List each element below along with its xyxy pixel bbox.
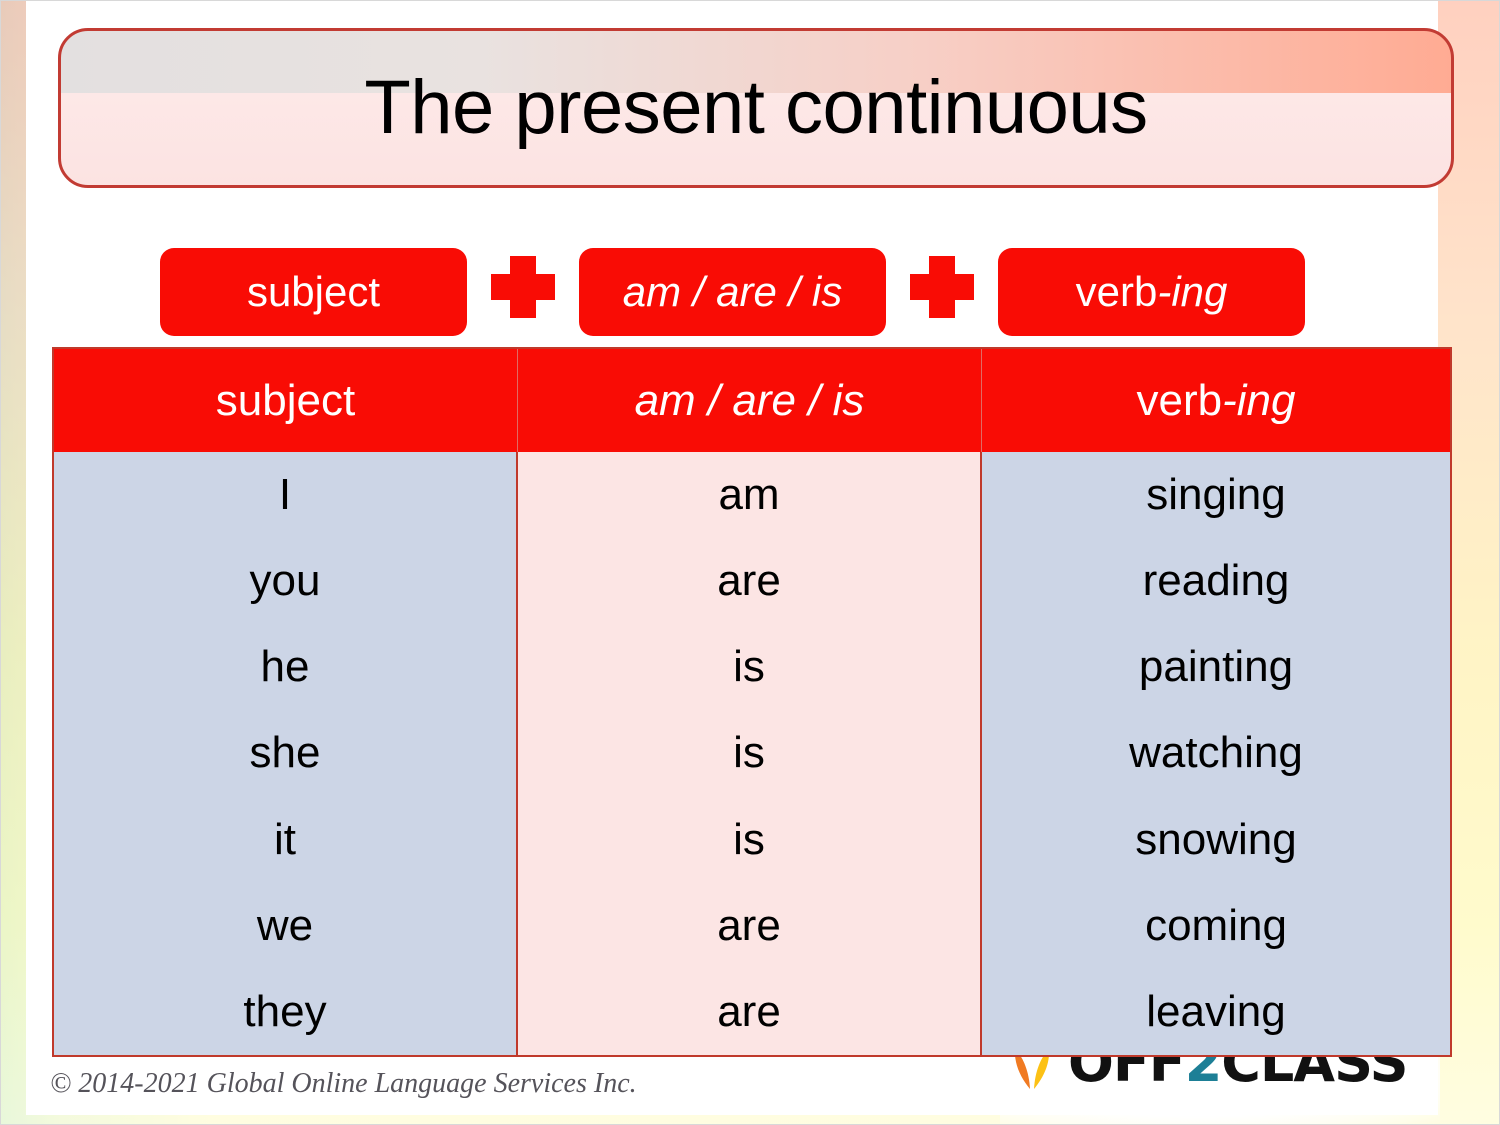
slide-canvas: The present continuous subject am / are … [0, 0, 1500, 1125]
table-header-subject: subject [54, 349, 518, 452]
formula-row: subject am / are / is verb -ing [160, 246, 1342, 338]
table-header-row: subject am / are / is verb -ing [54, 349, 1450, 452]
table-cell-verb: snowing [982, 797, 1450, 883]
table-header-verb: verb -ing [982, 349, 1450, 452]
table-cell-aux: is [518, 797, 980, 883]
formula-pill-verb-label: verb [1076, 271, 1158, 313]
formula-pill-subject-label: subject [247, 271, 380, 313]
copyright-notice: © 2014-2021 Global Online Language Servi… [50, 1068, 637, 1100]
table-cell-subject: I [54, 452, 516, 538]
table-cell-subject: we [54, 883, 516, 969]
table-cell-subject: it [54, 797, 516, 883]
table-header-aux: am / are / is [518, 349, 982, 452]
conjugation-table: subject am / are / is verb -ing I you he… [52, 347, 1452, 1057]
table-column-subject: I you he she it we they [54, 452, 518, 1055]
table-cell-aux: are [518, 969, 980, 1055]
table-cell-verb: reading [982, 538, 1450, 624]
table-cell-subject: he [54, 624, 516, 710]
formula-spacer [976, 292, 998, 293]
table-cell-verb: painting [982, 624, 1450, 710]
formula-pill-aux-label: am / are / is [623, 271, 842, 313]
table-column-aux: am are is is is are are [518, 452, 982, 1055]
title-banner: The present continuous [58, 28, 1454, 188]
formula-pill-subject[interactable]: subject [160, 248, 467, 336]
table-cell-verb: coming [982, 883, 1450, 969]
table-cell-aux: is [518, 624, 980, 710]
table-cell-verb: watching [982, 710, 1450, 796]
plus-icon [908, 248, 976, 336]
table-cell-aux: am [518, 452, 980, 538]
formula-pill-verb[interactable]: verb -ing [998, 248, 1305, 336]
table-column-verb: singing reading painting watching snowin… [982, 452, 1450, 1055]
table-cell-verb: singing [982, 452, 1450, 538]
formula-spacer [467, 292, 489, 293]
table-cell-subject: you [54, 538, 516, 624]
plus-icon [489, 248, 557, 336]
table-header-verb-suffix: -ing [1222, 379, 1295, 423]
table-header-verb-label: verb [1137, 379, 1223, 423]
table-cell-aux: are [518, 883, 980, 969]
table-body: I you he she it we they am are is is is … [54, 452, 1450, 1055]
table-cell-verb: leaving [982, 969, 1450, 1055]
table-cell-aux: are [518, 538, 980, 624]
formula-spacer [557, 292, 579, 293]
page-title: The present continuous [61, 70, 1451, 146]
table-cell-subject: they [54, 969, 516, 1055]
formula-pill-verb-suffix: -ing [1157, 271, 1227, 313]
formula-pill-aux[interactable]: am / are / is [579, 248, 886, 336]
formula-spacer [886, 292, 908, 293]
table-cell-aux: is [518, 710, 980, 796]
table-cell-subject: she [54, 710, 516, 796]
